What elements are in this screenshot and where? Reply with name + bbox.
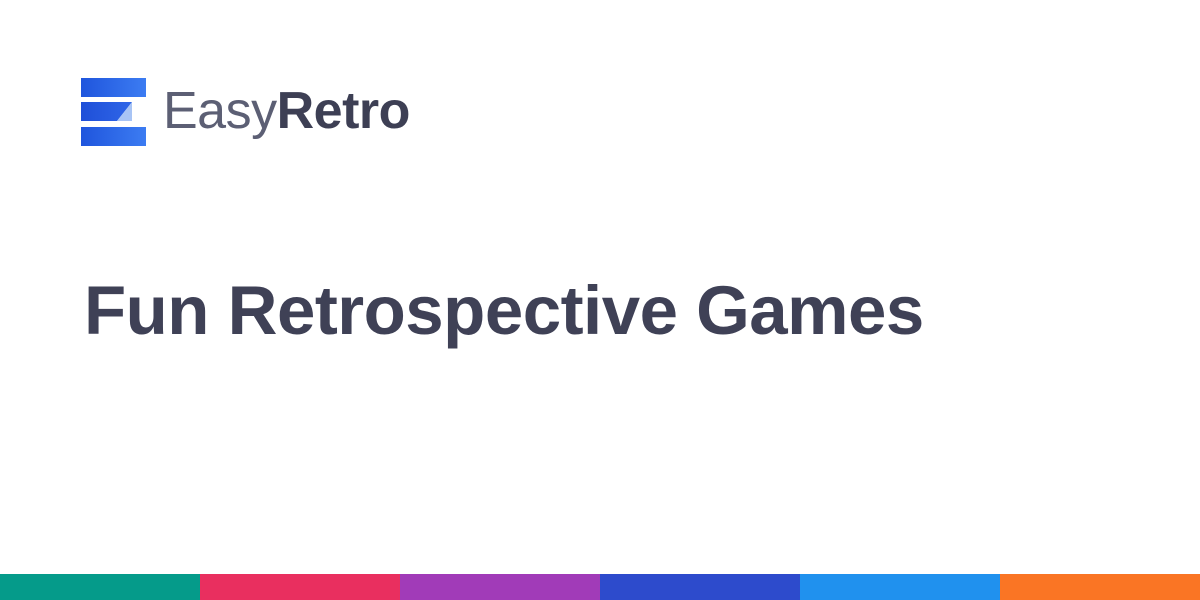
logo-wordmark-retro: Retro [277, 82, 410, 140]
page-title: Fun Retrospective Games [84, 273, 924, 349]
logo-wordmark: EasyRetro [163, 85, 410, 137]
color-segment-bright-blue [800, 574, 1000, 600]
color-segment-teal [0, 574, 200, 600]
color-segment-indigo-blue [600, 574, 800, 600]
color-segment-orange [1000, 574, 1200, 600]
logo-wordmark-easy: Easy [163, 82, 277, 140]
color-segment-crimson-pink [200, 574, 400, 600]
easyretro-logo-mark-icon [81, 78, 146, 146]
page-root: EasyRetro Fun Retrospective Games [0, 0, 1200, 600]
brand-logo[interactable]: EasyRetro [81, 76, 410, 148]
bottom-color-strip [0, 574, 1200, 600]
color-segment-purple [400, 574, 600, 600]
